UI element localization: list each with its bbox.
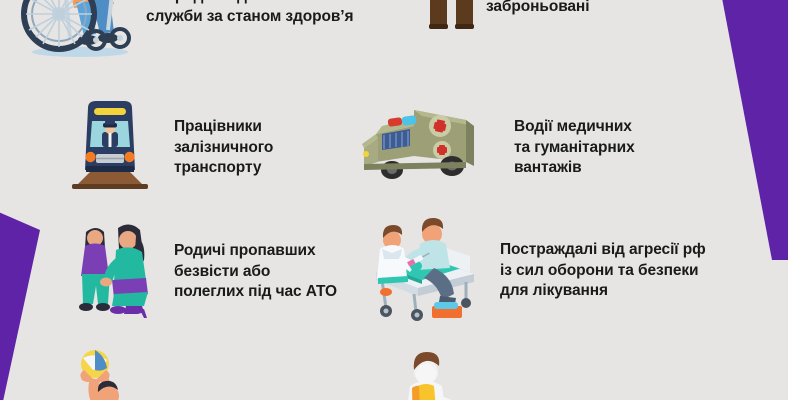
entry-disability: Непридатні до військової служби за стано… [18,0,353,62]
entry-students: Здобувачі освіти, [392,344,636,400]
two-women-icon [66,222,158,322]
entry-railway: Працівники залізничного транспорту [62,100,273,196]
military-ambulance-icon [362,104,486,192]
column-right: військову службу та заброньовані [394,0,788,400]
entry-conscription: військову службу та заброньовані [384,0,641,56]
entry-athletes: Спортсмени, тренери, [62,344,342,400]
infographic-canvas: Непридатні до військової служби за стано… [0,0,788,400]
entry-conscription-label: військову службу та заброньовані [486,0,641,18]
volleyball-player-icon [62,344,158,400]
entry-injured: Постраждалі від агресії рф із сил оборон… [370,216,706,326]
wheelchair-icon [18,0,138,62]
entry-relatives-label: Родичі пропавших безвісти або полеглих п… [174,241,337,303]
student-icon [392,344,492,400]
entry-drivers-label: Водії медичних та гуманітарних вантажів [514,117,635,179]
entry-relatives: Родичі пропавших безвісти або полеглих п… [66,222,337,322]
column-left: Непридатні до військової служби за стано… [0,0,394,400]
entry-disability-label: Непридатні до військової служби за стано… [146,0,353,28]
entry-injured-label: Постраждалі від агресії рф із сил оборон… [500,240,706,302]
military-uniform-icon [384,0,494,56]
entry-drivers: Водії медичних та гуманітарних вантажів [362,104,635,192]
entry-railway-label: Працівники залізничного транспорту [174,117,273,179]
train-icon [62,100,158,196]
medical-examination-icon [370,216,482,326]
